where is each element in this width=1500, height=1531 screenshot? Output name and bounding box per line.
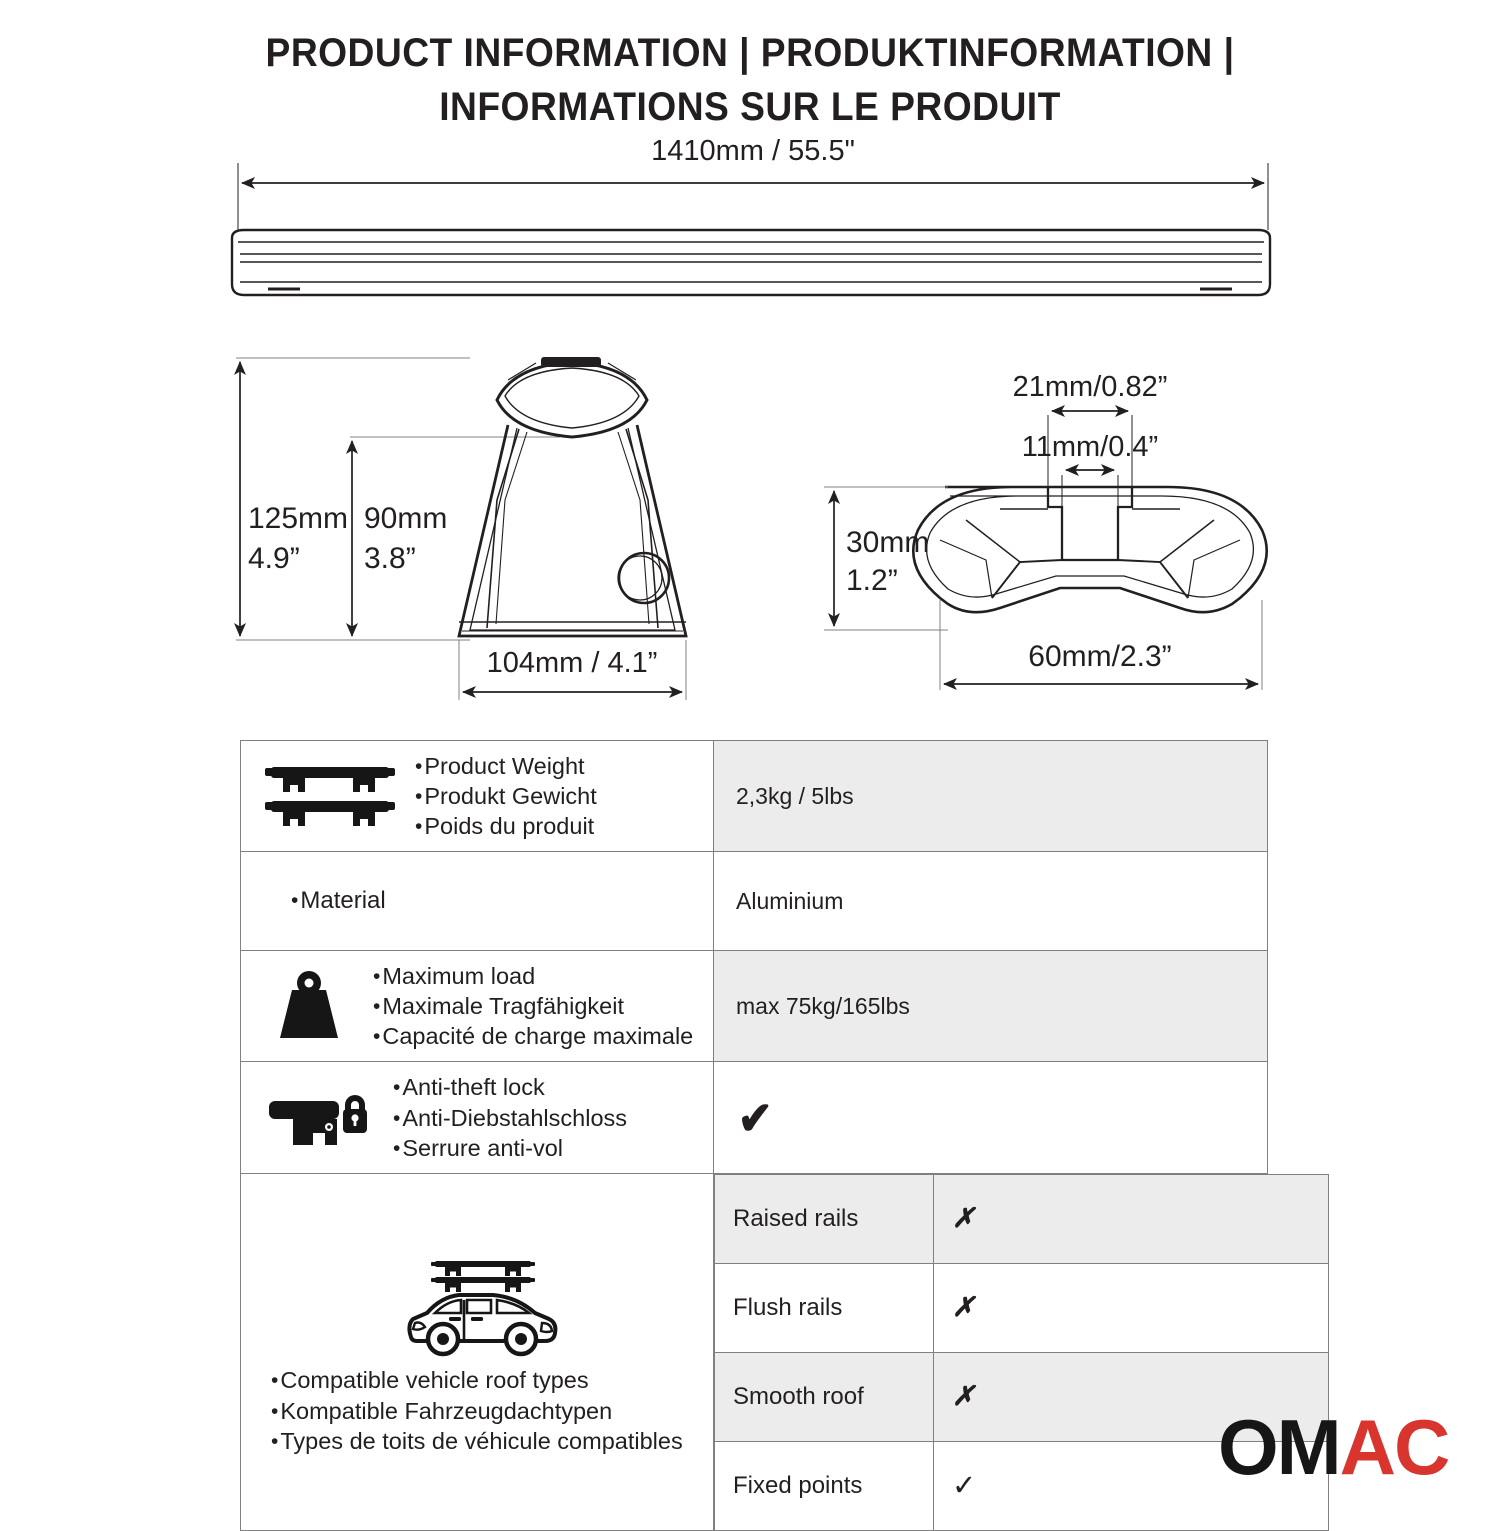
cross-mark-icon: ✗	[952, 1292, 975, 1322]
table-row: Product Weight Produkt Gewicht Poids du …	[241, 741, 1268, 852]
spec-label-bullets: Maximum load Maximale Tragfähigkeit Capa…	[373, 961, 707, 1051]
profile-width-label: 60mm/2.3”	[1028, 640, 1171, 673]
foot-height-inner-in: 3.8”	[364, 542, 416, 575]
foot-width-dimension: 104mm / 4.1”	[459, 640, 686, 700]
roof-type-mark: ✗	[934, 1174, 1329, 1263]
spec-label-en: Maximum load	[373, 961, 707, 991]
spec-value-cell: max 75kg/165lbs	[714, 951, 1268, 1062]
bar-length-label: 1410mm / 55.5"	[651, 135, 855, 167]
spec-label-cell: Maximum load Maximale Tragfähigkeit Capa…	[241, 951, 714, 1062]
profile-cross-section-drawing	[913, 487, 1266, 612]
spec-label-fr: Capacité de charge maximale	[373, 1021, 707, 1051]
logo-text-red: AC	[1340, 1408, 1449, 1486]
profile-height-in: 1.2”	[846, 564, 898, 597]
crossbar-side-view	[232, 230, 1270, 295]
foot-tower-drawing	[459, 357, 686, 636]
spec-label-cell: Anti-theft lock Anti-Diebstahlschloss Se…	[241, 1062, 714, 1173]
product-spec-table: Product Weight Produkt Gewicht Poids du …	[240, 740, 1268, 1531]
crossbars-icon	[255, 763, 405, 829]
bar-length-dimension: 1410mm / 55.5"	[238, 135, 1268, 230]
roof-types-label-en: Compatible vehicle roof types	[271, 1365, 707, 1396]
table-row-roof-types: Compatible vehicle roof types Kompatible…	[241, 1173, 1268, 1531]
check-mark-icon: ✓	[952, 1470, 976, 1502]
cross-mark-icon: ✗	[952, 1203, 975, 1233]
profile-slot-inner-label: 11mm/0.4”	[1022, 431, 1158, 463]
roof-types-value-cell: Raised rails ✗ Flush rails ✗	[714, 1173, 1268, 1531]
weight-icon	[255, 970, 363, 1042]
check-mark-icon: ✔	[738, 1095, 773, 1141]
roof-type-row: Flush rails ✗	[715, 1263, 1329, 1352]
profile-width-dimension: 60mm/2.3”	[940, 600, 1262, 690]
foot-height-inner-dimension: 90mm 3.8”	[350, 437, 560, 636]
roof-type-name: Raised rails	[715, 1174, 934, 1263]
spec-label-fr: Serrure anti-vol	[393, 1133, 707, 1163]
roof-types-label-fr: Types de toits de véhicule compatibles	[271, 1426, 707, 1457]
spec-label-bullets: Anti-theft lock Anti-Diebstahlschloss Se…	[393, 1072, 707, 1162]
spec-label-de: Anti-Diebstahlschloss	[393, 1103, 707, 1133]
foot-height-total-in: 4.9”	[248, 542, 300, 575]
spec-label-de: Produkt Gewicht	[415, 781, 707, 811]
foot-height-total-mm: 125mm	[248, 502, 348, 535]
page-title: PRODUCT INFORMATION | PRODUKTINFORMATION…	[0, 26, 1500, 134]
roof-type-mark: ✗	[934, 1263, 1329, 1352]
table-row: Maximum load Maximale Tragfähigkeit Capa…	[241, 951, 1268, 1062]
spec-label-en: Material	[291, 886, 707, 917]
spec-label-de: Maximale Tragfähigkeit	[373, 991, 707, 1021]
cross-mark-icon: ✗	[952, 1381, 975, 1411]
spec-label-en: Anti-theft lock	[393, 1072, 707, 1102]
table-row: Anti-theft lock Anti-Diebstahlschloss Se…	[241, 1062, 1268, 1173]
lock-icon	[255, 1087, 383, 1149]
foot-height-inner-mm: 90mm	[364, 502, 447, 535]
logo-text-dark: OM	[1218, 1408, 1340, 1486]
roof-types-label-cell: Compatible vehicle roof types Kompatible…	[241, 1173, 714, 1531]
page-title-line-2: INFORMATIONS SUR LE PRODUIT	[53, 80, 1448, 134]
spec-label-cell: Material	[241, 852, 714, 951]
spec-label-en: Product Weight	[415, 751, 707, 781]
foot-height-total-dimension: 125mm 4.9”	[236, 358, 470, 640]
table-row: Material Aluminium	[241, 852, 1268, 951]
spec-value-cell: Aluminium	[714, 852, 1268, 951]
roof-type-name: Fixed points	[715, 1441, 934, 1530]
spec-label-bullets: Product Weight Produkt Gewicht Poids du …	[415, 751, 707, 841]
profile-height-mm: 30mm	[846, 526, 929, 559]
spec-label-cell: Product Weight Produkt Gewicht Poids du …	[241, 741, 714, 852]
roof-type-row: Raised rails ✗	[715, 1174, 1329, 1263]
spec-label-fr: Poids du produit	[415, 811, 707, 841]
profile-slot-inner-dimension: 11mm/0.4”	[1022, 431, 1158, 508]
profile-height-dimension: 30mm 1.2”	[824, 487, 948, 630]
spec-value-cell: 2,3kg / 5lbs	[714, 741, 1268, 852]
page-title-line-1: PRODUCT INFORMATION | PRODUKTINFORMATION…	[53, 26, 1448, 80]
roof-types-label-bullets: Compatible vehicle roof types Kompatible…	[255, 1365, 707, 1457]
car-with-rack-icon	[255, 1239, 707, 1365]
roof-type-name: Smooth roof	[715, 1352, 934, 1441]
profile-slot-outer-label: 21mm/0.82”	[1013, 371, 1168, 403]
roof-type-name: Flush rails	[715, 1263, 934, 1352]
spec-label-bullets: Material	[255, 886, 707, 917]
omac-logo: OM AC	[1218, 1408, 1448, 1486]
spec-value-cell: ✔	[714, 1062, 1268, 1173]
roof-types-label-de: Kompatible Fahrzeugdachtypen	[271, 1396, 707, 1427]
profile-slot-outer-dimension: 21mm/0.82”	[1013, 371, 1168, 490]
foot-width-label: 104mm / 4.1”	[487, 647, 658, 679]
